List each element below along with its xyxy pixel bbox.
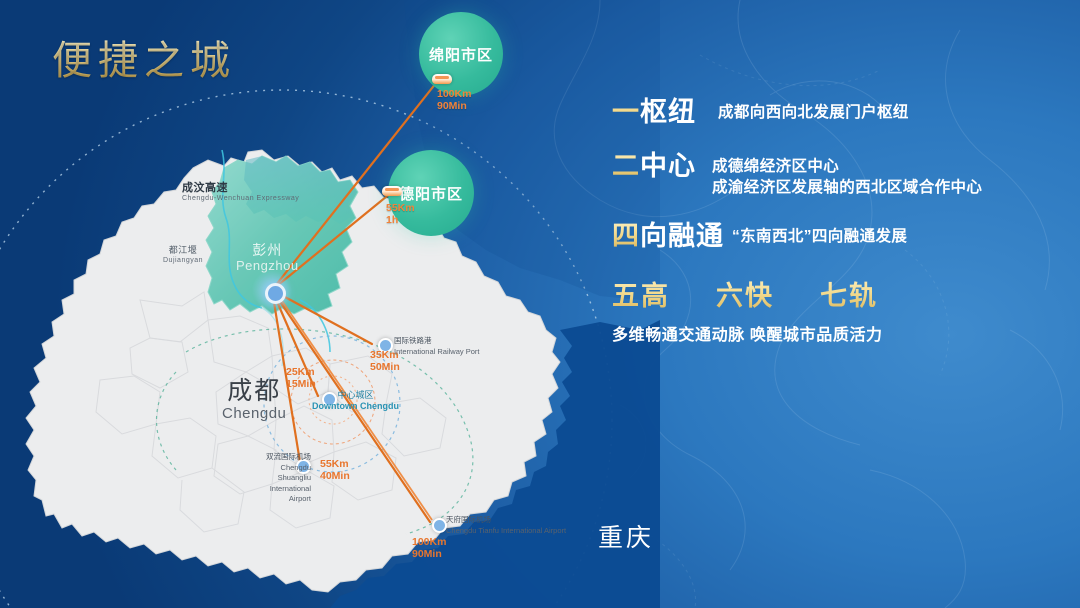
panel-key-center: 二中心 (612, 150, 696, 182)
place-label-chongqing: 重庆 (598, 525, 654, 552)
route-label-to-shuangliu: 55Km40Min (320, 458, 350, 482)
route-label-to-deyang: 55Km1h (386, 202, 415, 226)
panel-word-center: 中心 (640, 151, 696, 181)
panel-num-4: 四 (612, 221, 640, 251)
poi-railway-port: 国际铁路港 International Railway Port (394, 336, 479, 357)
route-label-to-downtown: 25Km15Min (286, 366, 316, 390)
panel-row-integration: 四向融通 “东南西北”四向融通发展 (612, 220, 1072, 252)
panel-row-hub: 一枢纽 成都向西向北发展门户枢纽 (612, 96, 1072, 128)
place-label-dujiangyan: 都江堰 Dujiangyan (163, 245, 203, 265)
panel-trio-fast: 六快 (716, 274, 774, 313)
panel-trio-rail: 七轨 (820, 274, 878, 313)
vehicle-icon-mianyang (432, 74, 452, 84)
panel-row-center: 二中心 成德绵经济区中心 成渝经济区发展轴的西北区域合作中心 (612, 150, 1072, 198)
panel-num-2: 二 (612, 151, 640, 181)
panel-trio-row: 五高 六快 七轨 (612, 274, 1072, 313)
panel-desc-integration: “东南西北”四向融通发展 (732, 220, 907, 247)
label-downtown-chengdu: 中心城区 Downtown Chengdu (312, 390, 399, 411)
route-label-to-mianyang: 100Km90Min (437, 88, 471, 112)
slide-root: 便捷之城 (0, 0, 1080, 608)
panel-tagline: 多维畅通交通动脉 唤醒城市品质活力 (612, 321, 1072, 345)
panel-desc-center: 成德绵经济区中心 成渝经济区发展轴的西北区域合作中心 (712, 150, 982, 198)
place-label-pengzhou: 彭州 Pengzhou (236, 242, 299, 273)
poi-shuangliu-airport: 双流国际机场 Chengdu Shuangliu International A… (253, 452, 311, 505)
panel-key-integration: 四向融通 (612, 220, 724, 252)
place-label-expressway: 成汶高速 Chengdu-Wenchuan Expressway (182, 183, 299, 203)
panel-word-hub: 枢纽 (640, 97, 696, 127)
poi-tianfu-airport: 天府国际机场 Chengdu Tianfu International Airp… (446, 515, 566, 536)
city-bubble-mianyang[interactable]: 绵阳市区 (419, 12, 503, 96)
route-label-to-tianfu: 100Km90Min (412, 536, 446, 560)
hub-node-pengzhou[interactable] (265, 283, 286, 304)
panel-desc-hub: 成都向西向北发展门户枢纽 (718, 96, 909, 123)
place-label-chengdu: 成都 Chengdu (222, 378, 286, 422)
panel-trio-high: 五高 (612, 274, 670, 313)
vehicle-icon-deyang (382, 186, 402, 196)
panel-key-hub: 一枢纽 (612, 96, 696, 128)
info-panel: 一枢纽 成都向西向北发展门户枢纽 二中心 成德绵经济区中心 成渝经济区发展轴的西… (612, 96, 1072, 345)
map-region: 绵阳市区 德阳市区 100Km90Min 55Km1h 35Km50Min 25… (0, 0, 660, 608)
panel-word-integration: 向融通 (640, 221, 724, 251)
panel-num-1: 一 (612, 97, 640, 127)
node-tianfu-airport[interactable] (432, 518, 447, 533)
